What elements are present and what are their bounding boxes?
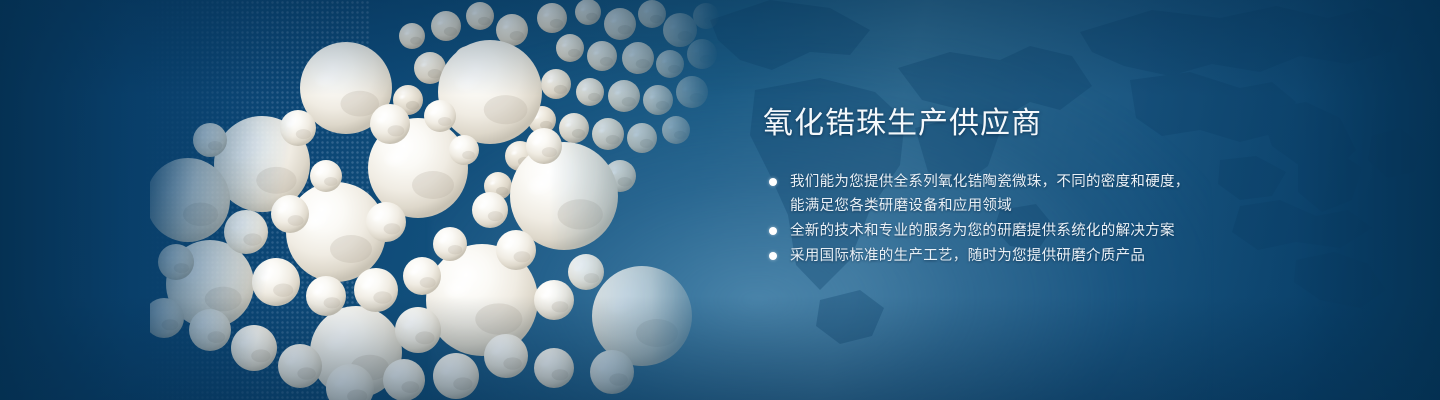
banner-headline: 氧化锆珠生产供应商 [763,104,1233,144]
banner-bullet-item: 我们能为您提供全系列氧化锆陶瓷微珠，不同的密度和硬度， 能满足您各类研磨设备和应… [763,170,1233,218]
bullet-line: 全新的技术和专业的服务为您的研磨提供系统化的解决方案 [790,219,1233,243]
bullet-line: 能满足您各类研磨设备和应用领域 [790,194,1233,218]
bullet-line: 采用国际标准的生产工艺，随时为您提供研磨介质产品 [790,244,1233,268]
banner-copy: 氧化锆珠生产供应商 我们能为您提供全系列氧化锆陶瓷微珠，不同的密度和硬度， 能满… [763,104,1233,268]
bullet-dot-icon [769,178,777,186]
hero-banner: 氧化锆珠生产供应商 我们能为您提供全系列氧化锆陶瓷微珠，不同的密度和硬度， 能满… [0,0,1440,400]
bullet-dot-icon [769,252,777,260]
bullet-line: 我们能为您提供全系列氧化锆陶瓷微珠，不同的密度和硬度， [790,170,1233,194]
bullet-dot-icon [769,227,777,235]
banner-bullet-item: 全新的技术和专业的服务为您的研磨提供系统化的解决方案 [763,219,1233,243]
banner-bullet-item: 采用国际标准的生产工艺，随时为您提供研磨介质产品 [763,244,1233,268]
banner-bullet-list: 我们能为您提供全系列氧化锆陶瓷微珠，不同的密度和硬度， 能满足您各类研磨设备和应… [763,170,1233,268]
